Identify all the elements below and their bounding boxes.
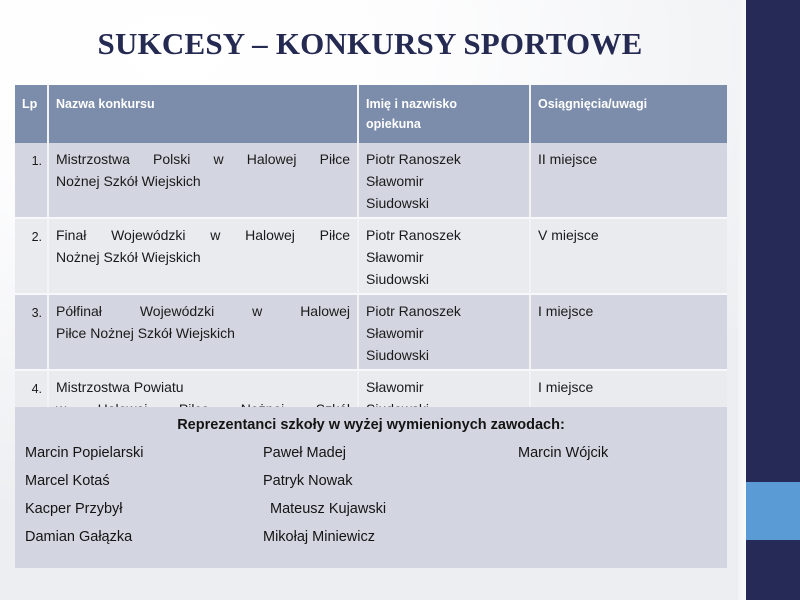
row-competition-name: Finał Wojewódzki w Halowej Piłce Nożnej … [48,218,358,294]
row-number: 2. [15,218,48,294]
sports-achievements-table: Lp Nazwa konkursu Imię i nazwisko opieku… [15,85,727,456]
competition-line: Nożnej Szkół Wiejskich [56,170,350,192]
right-edge-gutter [738,0,746,600]
table-row: 2. Finał Wojewódzki w Halowej Piłce Nożn… [15,218,727,294]
row-competition-name: Mistrzostwa Polski w Halowej Piłce Nożne… [48,143,358,218]
page-title: SUKCESY – KONKURSY SPORTOWE [0,26,740,62]
representatives-panel: Reprezentanci szkoły w wyżej wymienionyc… [15,407,727,568]
row-achievement: II miejsce [530,143,727,218]
table-header-row: Lp Nazwa konkursu Imię i nazwisko opieku… [15,85,727,143]
competition-line: Mistrzostwa Polski w Halowej Piłce [56,148,350,170]
competition-line: Finał Wojewódzki w Halowej Piłce [56,224,350,246]
representative-name: Mateusz Kujawski [270,495,386,523]
header-tutor-name: Imię i nazwisko opiekuna [358,85,530,143]
representative-name: Marcin Wójcik [518,439,608,467]
representative-name: Marcin Popielarski [25,439,143,467]
row-number: 1. [15,143,48,218]
representative-name: Mikołaj Miniewicz [263,523,375,551]
competition-line: Piłce Nożnej Szkół Wiejskich [56,322,350,344]
row-competition-name: Półfinał Wojewódzki w Halowej Piłce Nożn… [48,294,358,370]
slide: SUKCESY – KONKURSY SPORTOWE Lp Nazwa kon… [0,0,800,600]
competition-line: Nożnej Szkół Wiejskich [56,246,350,268]
representative-name: Kacper Przybył [25,495,123,523]
row-tutor: Piotr Ranoszek Sławomir Siudowski [358,294,530,370]
representative-name: Damian Gałązka [25,523,132,551]
competition-line: Mistrzostwa Powiatu [56,376,350,398]
representative-name: Patryk Nowak [263,467,352,495]
representatives-heading: Reprezentanci szkoły w wyżej wymienionyc… [25,414,717,436]
row-achievement: I miejsce [530,294,727,370]
competition-line: Półfinał Wojewódzki w Halowej [56,300,350,322]
header-lp: Lp [15,85,48,143]
table-row: 3. Półfinał Wojewódzki w Halowej Piłce N… [15,294,727,370]
right-accent-block [746,482,800,540]
header-achievements: Osiągnięcia/uwagi [530,85,727,143]
list-item: Kacper Przybył Mateusz Kujawski [25,495,717,523]
list-item: Marcel Kotaś Patryk Nowak [25,467,717,495]
row-tutor: Piotr Ranoszek Sławomir Siudowski [358,143,530,218]
row-tutor: Piotr Ranoszek Sławomir Siudowski [358,218,530,294]
list-item: Damian Gałązka Mikołaj Miniewicz [25,523,717,551]
row-achievement: V miejsce [530,218,727,294]
representative-name: Marcel Kotaś [25,467,110,495]
table-row: 1. Mistrzostwa Polski w Halowej Piłce No… [15,143,727,218]
list-item: Marcin Popielarski Paweł Madej Marcin Wó… [25,439,717,467]
header-competition-name: Nazwa konkursu [48,85,358,143]
row-number: 3. [15,294,48,370]
representative-name: Paweł Madej [263,439,346,467]
